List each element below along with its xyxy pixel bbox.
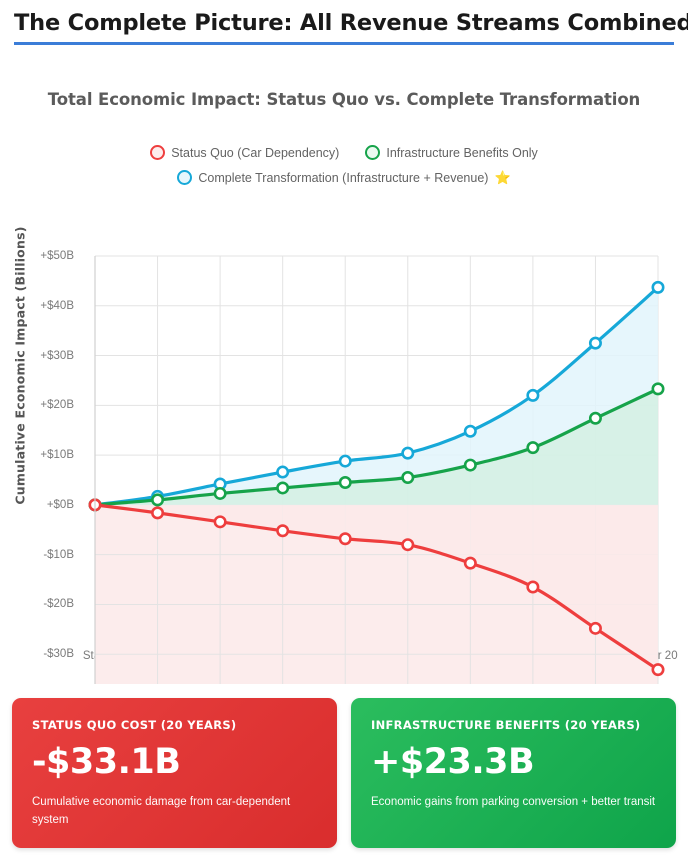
title-divider <box>14 42 674 45</box>
data-point-marker[interactable] <box>340 534 350 544</box>
plot-area: Cumulative Economic Impact (Billions) +$… <box>0 58 688 684</box>
data-point-marker[interactable] <box>590 623 600 633</box>
data-point-marker[interactable] <box>465 426 475 436</box>
data-point-marker[interactable] <box>590 338 600 348</box>
data-point-marker[interactable] <box>653 282 663 292</box>
summary-card-value: -$33.1B <box>32 741 317 783</box>
summary-card-description: Economic gains from parking conversion +… <box>371 793 656 811</box>
data-point-marker[interactable] <box>152 495 162 505</box>
summary-card-label: STATUS QUO COST (20 YEARS) <box>32 718 317 732</box>
page-root: The Complete Picture: All Revenue Stream… <box>0 0 688 860</box>
data-point-marker[interactable] <box>653 664 663 674</box>
data-point-marker[interactable] <box>152 508 162 518</box>
data-point-marker[interactable] <box>528 582 538 592</box>
data-point-marker[interactable] <box>465 558 475 568</box>
summary-card-status-quo: STATUS QUO COST (20 YEARS)-$33.1BCumulat… <box>12 698 337 848</box>
data-point-marker[interactable] <box>215 517 225 527</box>
data-point-marker[interactable] <box>215 488 225 498</box>
data-point-marker[interactable] <box>528 390 538 400</box>
data-point-marker[interactable] <box>403 540 413 550</box>
data-point-marker[interactable] <box>590 413 600 423</box>
data-point-marker[interactable] <box>277 526 287 536</box>
chart-svg[interactable] <box>0 58 688 684</box>
data-point-marker[interactable] <box>340 477 350 487</box>
data-point-marker[interactable] <box>528 442 538 452</box>
data-point-marker[interactable] <box>403 448 413 458</box>
chart-card: Total Economic Impact: Status Quo vs. Co… <box>0 58 688 684</box>
summary-card-description: Cumulative economic damage from car-depe… <box>32 793 317 829</box>
summary-card-value: +$23.3B <box>371 741 656 783</box>
data-point-marker[interactable] <box>465 460 475 470</box>
summary-card-infrastructure-benefits: INFRASTRUCTURE BENEFITS (20 YEARS)+$23.3… <box>351 698 676 848</box>
data-point-marker[interactable] <box>277 483 287 493</box>
data-point-marker[interactable] <box>277 467 287 477</box>
data-point-marker[interactable] <box>403 472 413 482</box>
data-point-marker[interactable] <box>653 384 663 394</box>
page-title: The Complete Picture: All Revenue Stream… <box>14 8 674 38</box>
data-point-marker[interactable] <box>340 456 350 466</box>
summary-cards-row: STATUS QUO COST (20 YEARS)-$33.1BCumulat… <box>12 698 676 848</box>
summary-card-label: INFRASTRUCTURE BENEFITS (20 YEARS) <box>371 718 656 732</box>
